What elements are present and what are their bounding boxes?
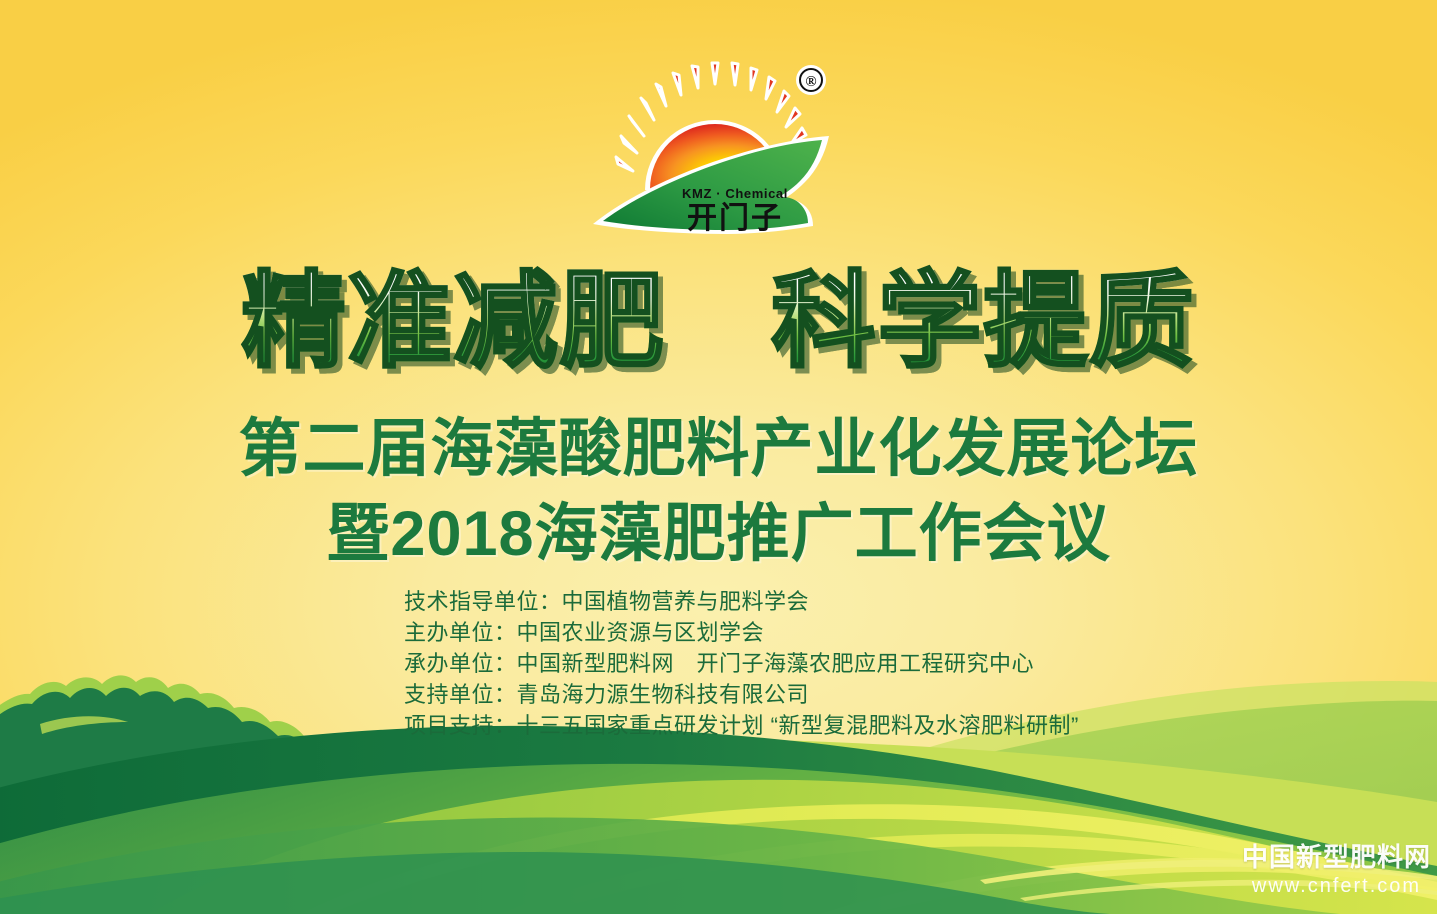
logo-latin-text: KMZ · Chemical [682, 186, 788, 201]
detail-line-host: 主办单位：中国农业资源与区划学会 [404, 617, 1204, 648]
registered-trademark-icon: ® [796, 65, 826, 95]
poster-subtitle-line1: 第二届海藻酸肥料产业化发展论坛 [0, 398, 1437, 489]
detail-line-project-support: 项目支持：十三五国家重点研发计划 “新型复混肥料及水溶肥料研制” [404, 710, 1204, 741]
poster-subtitle-line2: 暨2018海藻肥推广工作会议 [0, 483, 1437, 574]
watermark-url: www.cnfert.com [1242, 876, 1431, 896]
svg-text:®: ® [805, 74, 816, 90]
detail-line-organizer: 承办单位：中国新型肥料网 开门子海藻农肥应用工程研究中心 [404, 648, 1204, 679]
logo-cn-text: 开门子 [687, 202, 783, 235]
detail-line-technical-guidance: 技术指导单位：中国植物营养与肥料学会 [404, 586, 1204, 617]
watermark-site-name: 中国新型肥料网 [1242, 844, 1431, 870]
detail-line-supporter: 支持单位：青岛海力源生物科技有限公司 [404, 679, 1204, 710]
kmz-chemical-logo-svg: KMZ · Chemical 开门子 ® [589, 58, 849, 248]
brand-logo: KMZ · Chemical 开门子 ® [589, 58, 849, 248]
poster-headline: 精准减肥 科学提质 [0, 268, 1437, 377]
organizer-details: 技术指导单位：中国植物营养与肥料学会 主办单位：中国农业资源与区划学会 承办单位… [404, 586, 1204, 741]
site-watermark: 中国新型肥料网 www.cnfert.com [1242, 844, 1431, 896]
conference-poster: KMZ · Chemical 开门子 ® 精准减肥 科学提质 第二届海藻酸肥料产… [0, 0, 1437, 914]
